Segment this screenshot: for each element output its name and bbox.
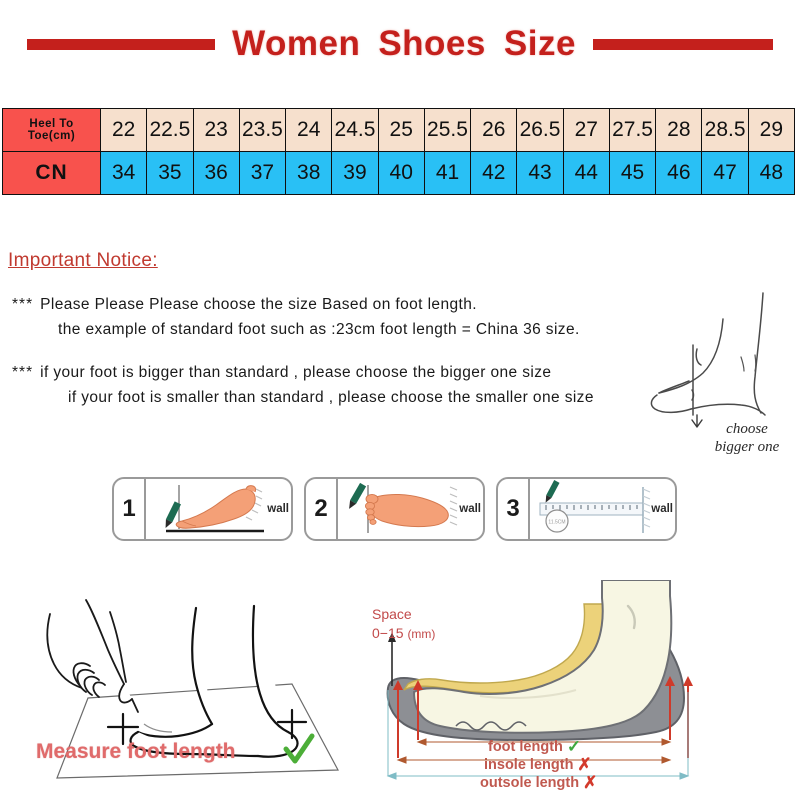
measure-foot-caption: Measure foot length [36,740,306,764]
step-box-3: 3 [496,477,677,541]
notice-line-1: ***Please Please Please choose the size … [12,292,672,317]
cn-cell: 41 [424,152,470,195]
measurement-row-foot-length: foot length ✓ [480,738,710,756]
measurement-labels: foot length ✓ insole length ✗ outsole le… [480,738,710,792]
choose-caption-line-2: bigger one [692,438,800,456]
cn-cell: 35 [147,152,193,195]
cm-cell: 25.5 [424,109,470,152]
cn-cell: 40 [378,152,424,195]
cn-cell: 34 [101,152,147,195]
measurement-label: foot length [488,738,563,756]
cn-cell: 43 [517,152,563,195]
table-row-cn: CN 34 35 36 37 38 39 40 41 42 43 44 45 4… [3,152,795,195]
cn-cell: 46 [656,152,702,195]
cm-cell: 24.5 [332,109,378,152]
choose-bigger-one-caption: choose bigger one [692,420,800,456]
title-rule-right [593,39,773,50]
check-mark-icon: ✓ [567,740,581,754]
step-number: 3 [498,495,528,523]
cm-cell: 26 [471,109,517,152]
cn-cell: 45 [609,152,655,195]
table-row-cm: Heel To Toe(cm) 22 22.5 23 23.5 24 24.5 … [3,109,795,152]
cm-cell: 22 [101,109,147,152]
notice-line-2: the example of standard foot such as :23… [12,317,672,342]
title-rule-left [27,39,215,50]
measurement-label: insole length [484,756,573,774]
notice-line-3: ***if your foot is bigger than standard … [12,360,672,385]
cn-cell: 44 [563,152,609,195]
cm-cell: 25 [378,109,424,152]
space-unit: (mm) [407,627,435,641]
wall-label: wall [459,503,481,515]
size-conversion-table: Heel To Toe(cm) 22 22.5 23 23.5 24 24.5 … [2,108,795,195]
measurement-row-insole-length: insole length ✗ [480,756,710,774]
space-value: 0−15 [372,625,404,641]
notice-body: ***Please Please Please choose the size … [12,292,672,410]
space-label: Space 0−15 (mm) [372,605,435,644]
step-illustration-top-foot: wall [338,479,485,539]
shoe-size-chart-page: WomenShoesSize Heel To Toe(cm) 22 22.5 2… [0,0,800,800]
cn-cell: 47 [702,152,748,195]
page-title: WomenShoesSize [0,18,800,70]
step-box-2: 2 [304,477,485,541]
cm-cell: 27 [563,109,609,152]
cm-cell: 29 [748,109,794,152]
page-title-text: WomenShoesSize [223,24,585,64]
cm-cell: 27.5 [609,109,655,152]
title-word-shoes: Shoes [378,24,486,63]
notice-line-1-text: Please Please Please choose the size Bas… [40,296,477,313]
cm-cell: 23 [193,109,239,152]
wall-label: wall [267,503,289,515]
cross-mark-icon: ✗ [577,758,591,772]
cm-cell: 22.5 [147,109,193,152]
notice-line-3-text: if your foot is bigger than standard , p… [40,364,551,381]
important-notice-heading: Important Notice: [8,250,158,272]
measurement-row-outsole-length: outsole length ✗ [480,774,710,792]
step-number: 1 [114,495,144,523]
notice-stars: *** [12,296,33,313]
cn-cell: 42 [471,152,517,195]
cn-cell: 36 [193,152,239,195]
cn-cell: 39 [332,152,378,195]
step-illustration-side-foot: wall [146,479,293,539]
notice-spacer [12,342,672,360]
row-header-heel-to-toe: Heel To Toe(cm) [3,109,101,152]
measure-steps: 1 [112,477,677,541]
cross-mark-icon: ✗ [583,776,597,790]
title-word-size: Size [504,24,576,63]
ruler-reading-badge: 11.5CM [548,520,565,526]
step-box-1: 1 [112,477,293,541]
space-label-line-1: Space [372,605,435,624]
wall-label: wall [651,503,673,515]
notice-stars: *** [12,364,33,381]
row-header-cn: CN [3,152,101,195]
step-number: 2 [306,495,336,523]
cn-cell: 37 [239,152,285,195]
choose-caption-line-1: choose [692,420,800,438]
cm-cell: 28.5 [702,109,748,152]
cm-cell: 28 [656,109,702,152]
step-illustration-ruler: 11.5CM wall [530,479,677,539]
cm-cell: 26.5 [517,109,563,152]
check-mark-icon [282,733,316,769]
title-word-women: Women [232,24,360,63]
measurement-label: outsole length [480,774,579,792]
space-label-line-2: 0−15 (mm) [372,624,435,644]
cn-cell: 48 [748,152,794,195]
cm-cell: 23.5 [239,109,285,152]
notice-line-4: if your foot is smaller than standard , … [12,385,672,410]
cm-cell: 24 [286,109,332,152]
cn-cell: 38 [286,152,332,195]
